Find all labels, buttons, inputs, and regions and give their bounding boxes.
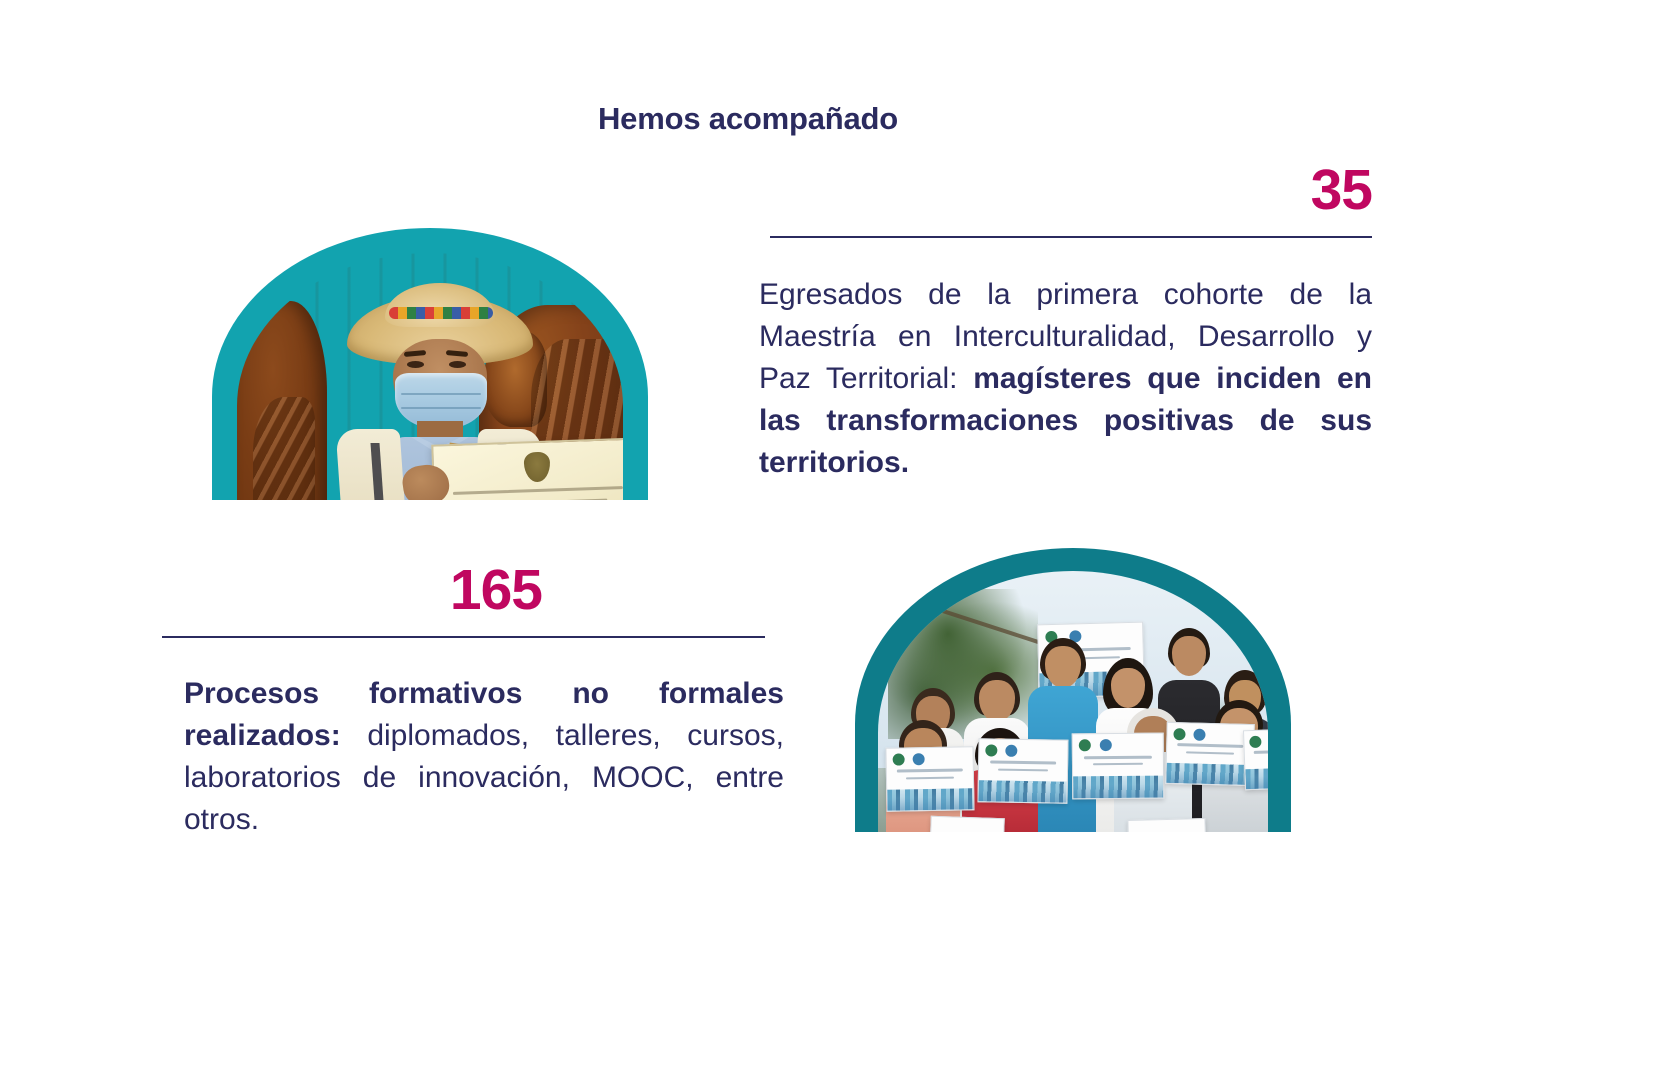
photo-graduate-with-diploma (212, 228, 648, 500)
certificate-text-line (990, 760, 1057, 764)
eye-right (449, 361, 466, 368)
certificate-color-band (887, 788, 973, 811)
certificate-text-line (1093, 763, 1143, 765)
certificate-seal-icon (1173, 728, 1185, 740)
certificate-color-band (1073, 776, 1163, 799)
certificate-text-line (906, 776, 954, 779)
certificate-text-line (998, 768, 1047, 771)
certificate-seal-icon (1079, 739, 1091, 751)
straw-hat-crown (385, 283, 495, 327)
stat-divider-2 (162, 636, 765, 638)
certificate-seal-icon (1249, 735, 1261, 747)
certificate (885, 746, 974, 812)
certificate-text-line (1177, 744, 1242, 749)
ruana-left-panel (336, 429, 407, 500)
certificate-text-line (1254, 749, 1268, 754)
head (979, 680, 1015, 722)
photo-group-image (878, 571, 1268, 832)
certificate-logo-icon (1006, 745, 1018, 757)
diploma-document (431, 437, 623, 500)
certificate (1165, 722, 1255, 786)
certificate (1127, 818, 1206, 832)
head (1045, 646, 1081, 688)
photo-graduate-image (237, 253, 623, 500)
infographic-canvas: Hemos acompañado 35 Egresados de la prim… (0, 0, 1657, 1081)
stat-body-2: Procesos formativos no formales realizad… (184, 673, 784, 841)
head (1172, 636, 1206, 676)
certificate-logo-icon (1100, 739, 1112, 751)
photo-group-with-certificates (855, 548, 1291, 832)
certificate (1072, 733, 1165, 800)
stat-body-1: Egresados de la primera cohorte de la Ma… (759, 274, 1372, 484)
stat-divider-1 (770, 236, 1372, 238)
certificate-text-line (1186, 751, 1234, 754)
stat-number-35: 35 (770, 162, 1372, 219)
hat-colorful-band (389, 307, 493, 319)
page-title: Hemos acompañado (598, 101, 1018, 137)
certificate-color-band (978, 780, 1066, 803)
stat-number-165: 165 (162, 562, 542, 619)
certificate-text-line (1084, 755, 1152, 759)
certificate-logo-icon (912, 753, 924, 765)
eye-left (407, 361, 424, 368)
certificate-seal-icon (985, 744, 997, 756)
certificate-color-band (1166, 762, 1253, 785)
diploma-text-line (469, 499, 607, 500)
university-crest-icon (524, 452, 551, 483)
certificate-seal-icon (893, 753, 905, 765)
diploma-text-line (453, 486, 623, 495)
certificate-color-band (1245, 767, 1268, 789)
certificate (977, 738, 1068, 804)
certificate (929, 816, 1005, 832)
certificate (1243, 728, 1268, 791)
certificate-text-line (897, 769, 962, 773)
certificate-logo-icon (1193, 728, 1205, 740)
wood-carving-left (237, 301, 327, 500)
